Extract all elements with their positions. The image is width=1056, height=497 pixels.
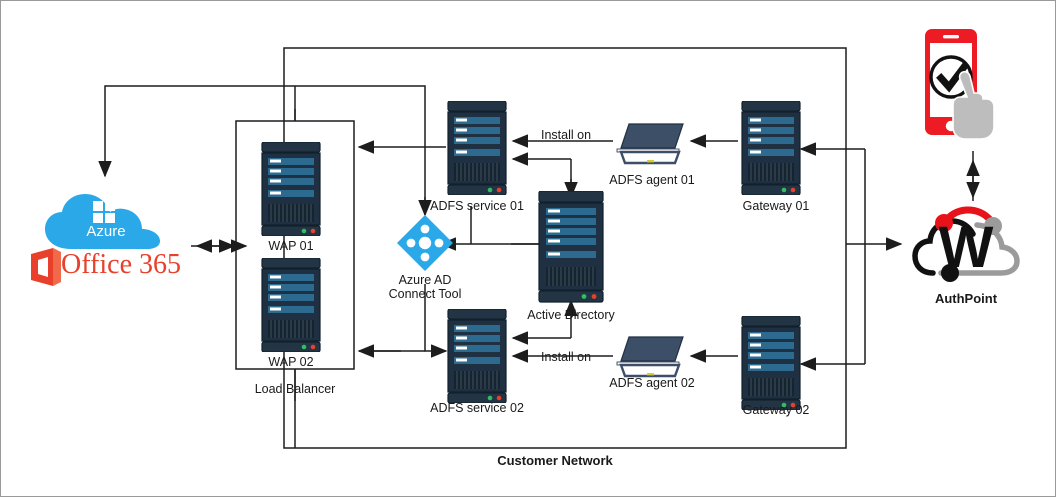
azure-ad-connect-label: Azure ADConnect Tool <box>365 273 485 302</box>
server-wap01[interactable] <box>260 142 322 241</box>
adfs02-label: ADFS service 02 <box>422 401 532 415</box>
phone-approve-icon <box>919 27 999 149</box>
server-icon <box>740 316 802 410</box>
azure-cloud-icon <box>41 191 171 253</box>
server-gateway02[interactable] <box>740 316 802 415</box>
server-icon <box>446 101 508 195</box>
server-icon <box>446 309 508 403</box>
office365-label: Office 365 <box>61 249 191 281</box>
svg-text:W: W <box>939 215 994 280</box>
customer-network-label: Customer Network <box>465 454 645 469</box>
gateway02-label: Gateway 02 <box>731 403 821 417</box>
laptop-adfs-agent01[interactable] <box>613 122 691 166</box>
server-icon <box>740 101 802 195</box>
gateway01-label: Gateway 01 <box>731 199 821 213</box>
active-directory-label: Active Directory <box>511 308 631 322</box>
aadc-line1: Azure AD <box>399 273 452 287</box>
phone-approve-node[interactable] <box>919 27 999 149</box>
authpoint-label: AuthPoint <box>911 292 1021 307</box>
diagram-canvas: Azure Office 365 <box>0 0 1056 497</box>
aadc-line2: Connect Tool <box>389 287 462 301</box>
authpoint-cloud-icon: W <box>911 201 1021 291</box>
wap02-label: WAP 02 <box>251 355 331 369</box>
laptop-icon <box>613 335 691 379</box>
laptop-adfs-agent02[interactable] <box>613 335 691 379</box>
server-adfs02[interactable] <box>446 309 508 408</box>
load-balancer-label: Load Balancer <box>245 382 345 396</box>
authpoint-logo-node[interactable]: W <box>911 201 1021 291</box>
adfs01-label: ADFS service 01 <box>422 199 532 213</box>
azure-label: Azure <box>41 223 171 240</box>
server-gateway01[interactable] <box>740 101 802 200</box>
server-icon <box>260 258 322 352</box>
azure-cloud-node[interactable] <box>41 191 171 251</box>
azure-ad-connect-icon <box>397 215 453 271</box>
install-on-label-2: Install on <box>521 350 611 364</box>
server-icon <box>537 191 605 303</box>
laptop-icon <box>613 122 691 166</box>
azure-ad-connect-node[interactable] <box>397 215 453 271</box>
wap01-label: WAP 01 <box>251 239 331 253</box>
server-icon <box>260 142 322 236</box>
install-on-label-1: Install on <box>521 128 611 142</box>
server-wap02[interactable] <box>260 258 322 357</box>
server-adfs01[interactable] <box>446 101 508 200</box>
adfs-agent02-label: ADFS agent 02 <box>602 376 702 390</box>
adfs-agent01-label: ADFS agent 01 <box>602 173 702 187</box>
server-active-directory[interactable] <box>537 191 605 308</box>
